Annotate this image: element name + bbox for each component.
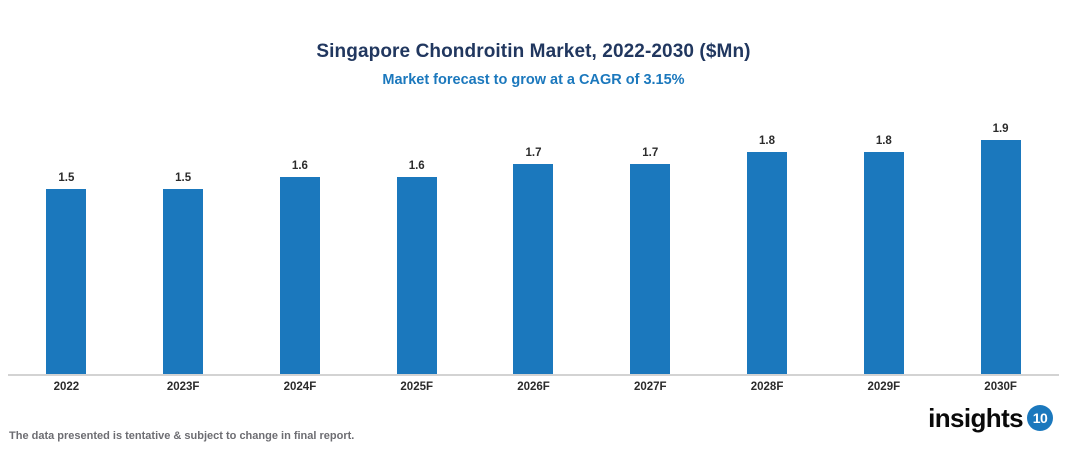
bar-slot: 1.6: [242, 120, 359, 375]
bar-value-label: 1.7: [642, 147, 658, 160]
bar-column[interactable]: 1.7: [513, 120, 553, 375]
category-label-2022: 2022: [8, 379, 125, 395]
bar-slot: 1.5: [125, 120, 242, 375]
bar-column[interactable]: 1.5: [163, 120, 203, 375]
bar-column[interactable]: 1.5: [46, 120, 86, 375]
bar-slot: 1.9: [942, 120, 1059, 375]
brand-name: insights: [928, 404, 1023, 432]
category-label-2028F: 2028F: [709, 379, 826, 395]
plot-area: 1.51.51.61.61.71.71.81.81.9: [8, 120, 1059, 375]
bar-column[interactable]: 1.8: [864, 120, 904, 375]
insights10-logo: insights 10: [928, 403, 1053, 433]
bar-slot: 1.8: [709, 120, 826, 375]
bar-2026F[interactable]: [513, 164, 553, 375]
bar-2030F[interactable]: [981, 140, 1021, 375]
bar-value-label: 1.9: [993, 123, 1009, 136]
title-block: Singapore Chondroitin Market, 2022-2030 …: [0, 40, 1067, 90]
bar-2023F[interactable]: [163, 189, 203, 375]
bar-value-label: 1.5: [175, 172, 191, 185]
bar-slot: 1.7: [592, 120, 709, 375]
chart-title: Singapore Chondroitin Market, 2022-2030 …: [0, 40, 1067, 64]
bar-2025F[interactable]: [397, 177, 437, 375]
x-axis-line: [8, 374, 1059, 376]
bar-column[interactable]: 1.9: [981, 120, 1021, 375]
bar-slot: 1.5: [8, 120, 125, 375]
category-label-2026F: 2026F: [475, 379, 592, 395]
category-label-2030F: 2030F: [942, 379, 1059, 395]
brand-badge-icon: 10: [1027, 405, 1053, 431]
category-axis: 20222023F2024F2025F2026F2027F2028F2029F2…: [8, 379, 1059, 399]
bar-value-label: 1.5: [58, 172, 74, 185]
bar-value-label: 1.7: [525, 147, 541, 160]
bar-column[interactable]: 1.6: [280, 120, 320, 375]
bar-2027F[interactable]: [630, 164, 670, 375]
category-label-2023F: 2023F: [125, 379, 242, 395]
bar-slot: 1.6: [358, 120, 475, 375]
category-label-2025F: 2025F: [358, 379, 475, 395]
bar-value-label: 1.8: [876, 135, 892, 148]
bar-value-label: 1.6: [292, 160, 308, 173]
bar-2028F[interactable]: [747, 152, 787, 375]
bar-2029F[interactable]: [864, 152, 904, 375]
bar-column[interactable]: 1.8: [747, 120, 787, 375]
bar-column[interactable]: 1.7: [630, 120, 670, 375]
bar-slot: 1.7: [475, 120, 592, 375]
category-label-2024F: 2024F: [242, 379, 359, 395]
bar-value-label: 1.6: [409, 160, 425, 173]
chart-container: Singapore Chondroitin Market, 2022-2030 …: [0, 0, 1067, 454]
category-label-2027F: 2027F: [592, 379, 709, 395]
chart-subtitle: Market forecast to grow at a CAGR of 3.1…: [0, 70, 1067, 90]
bar-column[interactable]: 1.6: [397, 120, 437, 375]
bar-2022[interactable]: [46, 189, 86, 375]
bar-value-label: 1.8: [759, 135, 775, 148]
category-label-2029F: 2029F: [825, 379, 942, 395]
disclaimer-text: The data presented is tentative & subjec…: [9, 429, 354, 444]
bar-2024F[interactable]: [280, 177, 320, 375]
bar-slot: 1.8: [825, 120, 942, 375]
